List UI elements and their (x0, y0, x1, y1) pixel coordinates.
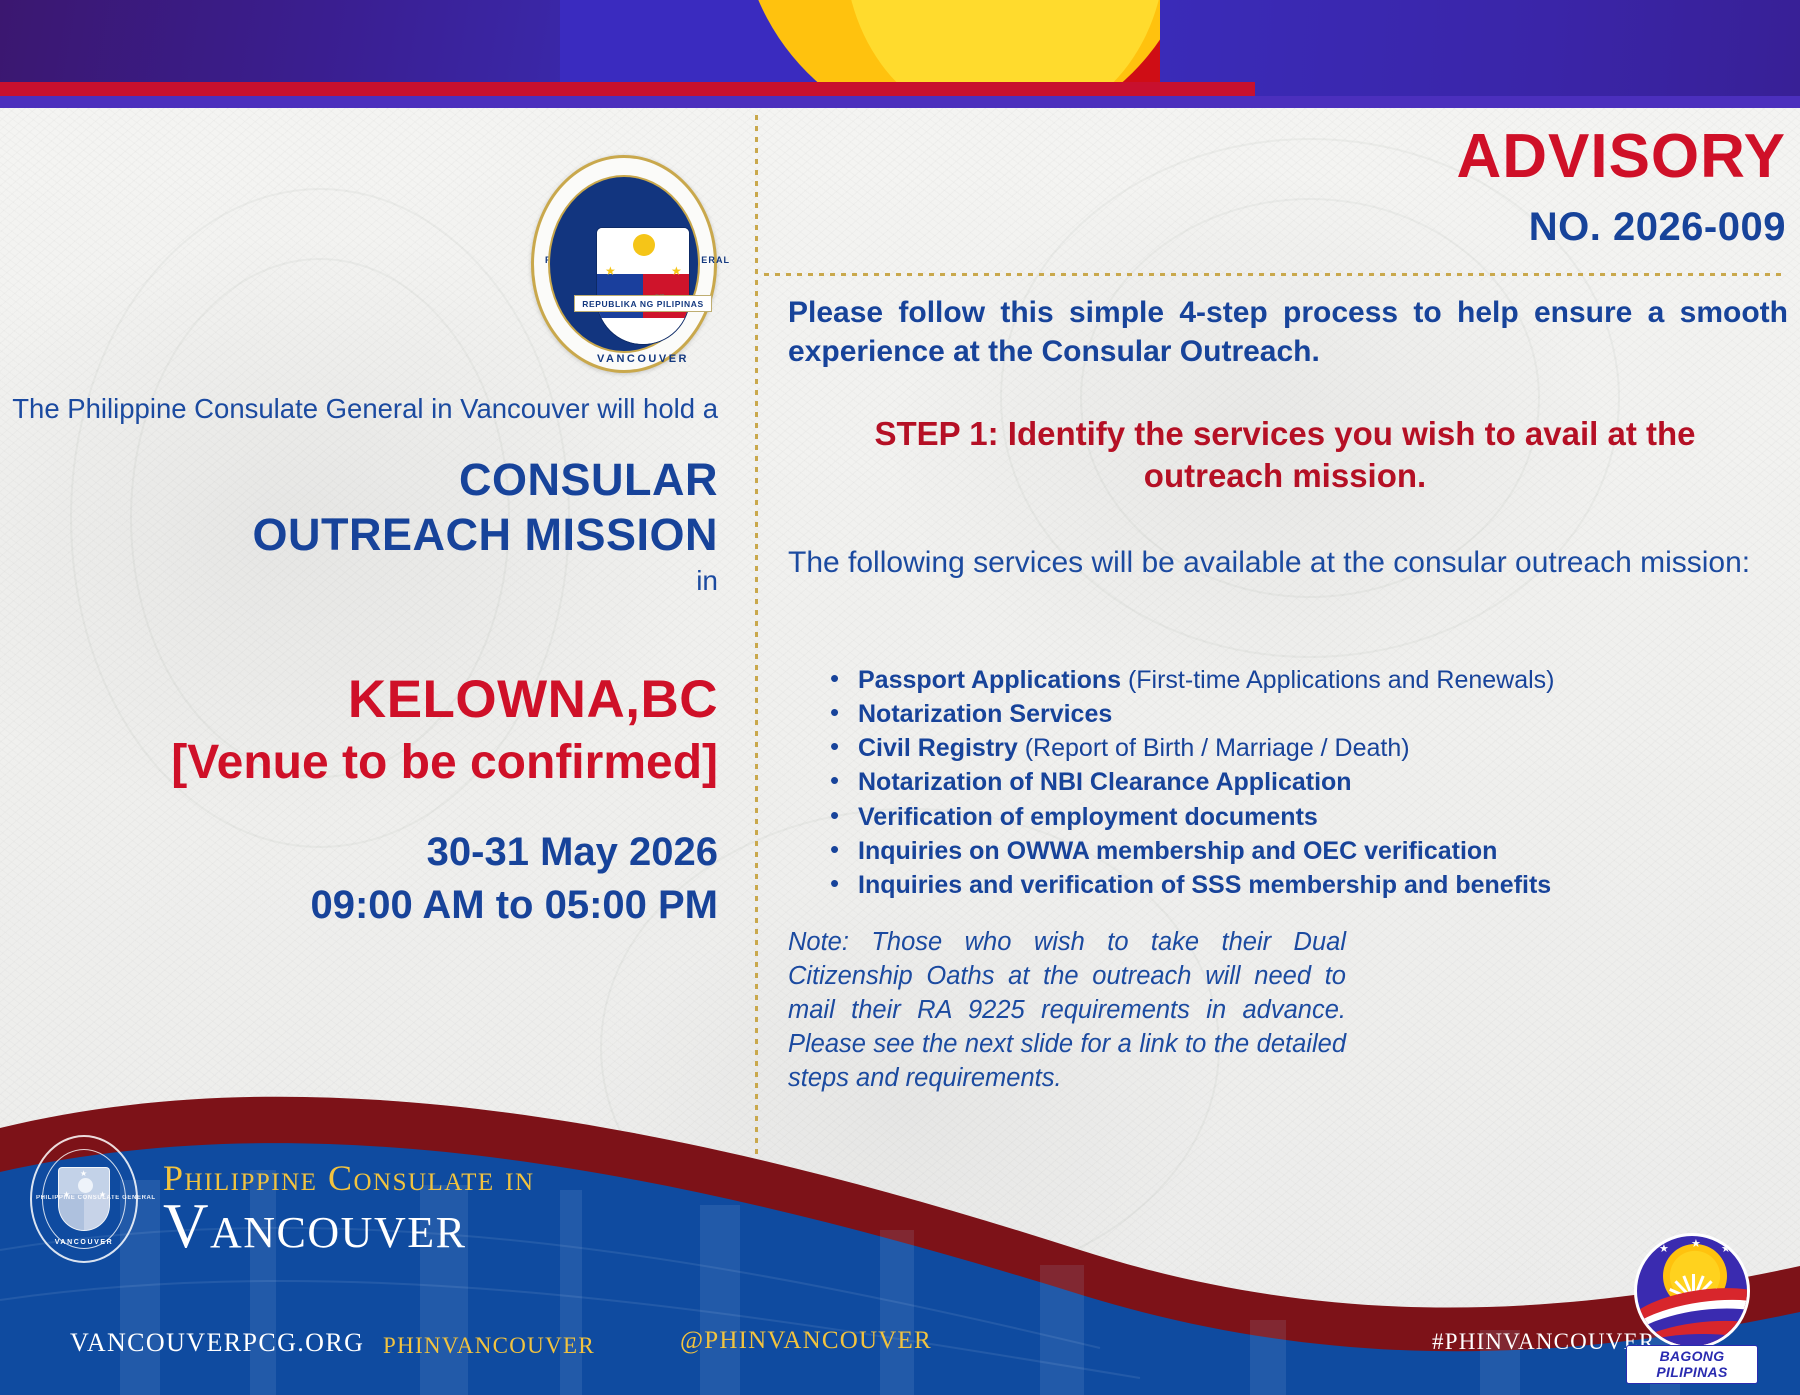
footer-facebook-handle[interactable]: PHINVANCOUVER (383, 1333, 595, 1359)
venue-confirmation-note: [Venue to be confirmed] (0, 732, 718, 794)
step-1-heading: STEP 1: Identify the services you wish t… (804, 413, 1766, 497)
service-list-item: Inquiries and verification of SSS member… (824, 868, 1784, 902)
venue-city: KELOWNA,BC (0, 668, 718, 732)
bagong-pilipinas-logo-icon: ★ ★ ★ BAGONG PILIPINAS (1626, 1233, 1758, 1383)
service-name: Notarization of NBI Clearance Applicatio… (858, 768, 1352, 796)
event-title-block: CONSULAR OUTREACH MISSION in (0, 453, 718, 599)
process-intro-paragraph: Please follow this simple 4-step process… (788, 293, 1788, 371)
seal-vancouver-text: VANCOUVER (550, 353, 736, 365)
event-time: 09:00 AM to 05:00 PM (0, 879, 718, 932)
seal-sun-icon (633, 234, 655, 256)
horizontal-dotted-divider (764, 273, 1786, 276)
service-list-item: Civil Registry (Report of Birth / Marria… (824, 731, 1784, 765)
service-detail: (Report of Birth / Marriage / Death) (1018, 734, 1410, 762)
event-date: 30-31 May 2026 (0, 826, 718, 879)
top-banner-decoration (0, 0, 1800, 110)
vertical-dotted-divider (755, 115, 758, 1165)
date-time-block: 30-31 May 2026 09:00 AM to 05:00 PM (0, 826, 718, 932)
event-title-line1: CONSULAR (0, 453, 718, 508)
consulate-seal-icon: PHILIPPINE CONSULATE GENERAL ★ ★ 🐄 🦁 REP… (531, 155, 717, 373)
banner-red-strip (0, 82, 1255, 96)
intro-line: The Philippine Consulate General in Vanc… (0, 393, 718, 425)
bagong-pilipinas-label: BAGONG PILIPINAS (1626, 1345, 1758, 1384)
service-list-item: Verification of employment documents (824, 800, 1784, 834)
venue-block: KELOWNA,BC [Venue to be confirmed] (0, 668, 718, 794)
footer-website[interactable]: VANCOUVERPCG.ORG (70, 1328, 364, 1358)
service-list-item: Passport Applications (First-time Applic… (824, 663, 1784, 697)
left-panel: PHILIPPINE CONSULATE GENERAL ★ ★ 🐄 🦁 REP… (0, 108, 880, 1108)
service-name: Inquiries and verification of SSS member… (858, 871, 1551, 899)
service-name: Verification of employment documents (858, 803, 1318, 831)
service-name: Notarization Services (858, 700, 1112, 728)
footer-seal-vancouver-text: VANCOUVER (30, 1239, 138, 1246)
banner-right-purple (1160, 0, 1800, 110)
service-list-item: Notarization Services (824, 697, 1784, 731)
footer-consulate-seal-icon: ★ ★ ★ PHILIPPINE CONSULATE GENERAL VANCO… (30, 1135, 138, 1263)
seal-band-text: REPUBLIKA NG PILIPINAS (574, 295, 712, 312)
services-lead-text: The following services will be available… (788, 543, 1788, 583)
service-name: Civil Registry (858, 734, 1018, 762)
footer-hashtag: #PHINVANCOUVER (1432, 1329, 1655, 1355)
service-detail: (First-time Applications and Renewals) (1121, 666, 1555, 694)
service-list-item: Notarization of NBI Clearance Applicatio… (824, 765, 1784, 799)
footer-instagram-handle[interactable]: @PHINVANCOUVER (680, 1327, 932, 1355)
service-name: Passport Applications (858, 666, 1121, 694)
service-name: Inquiries on OWWA membership and OEC ver… (858, 837, 1497, 865)
footer-seal-ring-text: PHILIPPINE CONSULATE GENERAL (36, 1195, 132, 1201)
services-list: Passport Applications (First-time Applic… (824, 663, 1784, 902)
footer-content: ★ ★ ★ PHILIPPINE CONSULATE GENERAL VANCO… (0, 1055, 1800, 1395)
advisory-number: NO. 2026-009 (764, 205, 1786, 250)
footer-brand-line2: Vancouver (163, 1195, 466, 1258)
service-list-item: Inquiries on OWWA membership and OEC ver… (824, 834, 1784, 868)
event-title-connector: in (0, 563, 718, 599)
advisory-title: ADVISORY (764, 126, 1786, 188)
event-title-line2: OUTREACH MISSION (0, 508, 718, 563)
